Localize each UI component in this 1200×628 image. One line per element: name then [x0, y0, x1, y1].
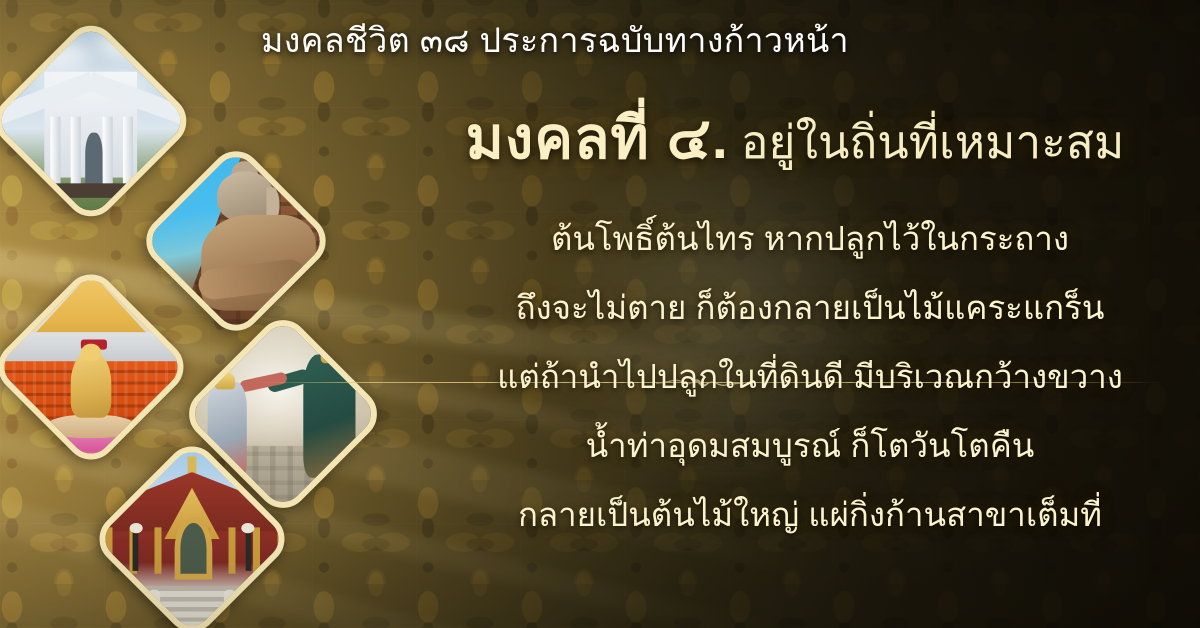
verse-line: ถึงจะไม่ตาย ก็ต้องกลายเป็นไม้แคระแกร็น — [430, 291, 1190, 324]
series-heading: มงคลชีวิต ๓๘ ประการฉบับทางก้าวหน้า — [150, 22, 960, 61]
title-number-label: มงคลที่ ๔. — [466, 106, 729, 171]
verse-line: น้ำท่าอุดมสมบูรณ์ ก็โตวันโตคืน — [430, 429, 1190, 462]
verse-line: กลายเป็นต้นไม้ใหญ่ แผ่กิ่งก้านสาขาเต็มที… — [430, 498, 1190, 531]
verse-block: ต้นโพธิ์ต้นไทร หากปลูกไว้ในกระถาง ถึงจะไ… — [430, 222, 1190, 531]
title-subject-label: อยู่ในถิ่นที่เหมาะสม — [741, 116, 1124, 168]
verse-line: ต้นโพธิ์ต้นไทร หากปลูกไว้ในกระถาง — [430, 222, 1190, 255]
page-title: มงคลที่ ๔.อยู่ในถิ่นที่เหมาะสม — [400, 108, 1190, 171]
banner-canvas: มงคลชีวิต ๓๘ ประการฉบับทางก้าวหน้า มงคลท… — [0, 0, 1200, 628]
verse-line: แต่ถ้านำไปปลูกในที่ดินดี มีบริเวณกว้างขว… — [430, 360, 1190, 393]
